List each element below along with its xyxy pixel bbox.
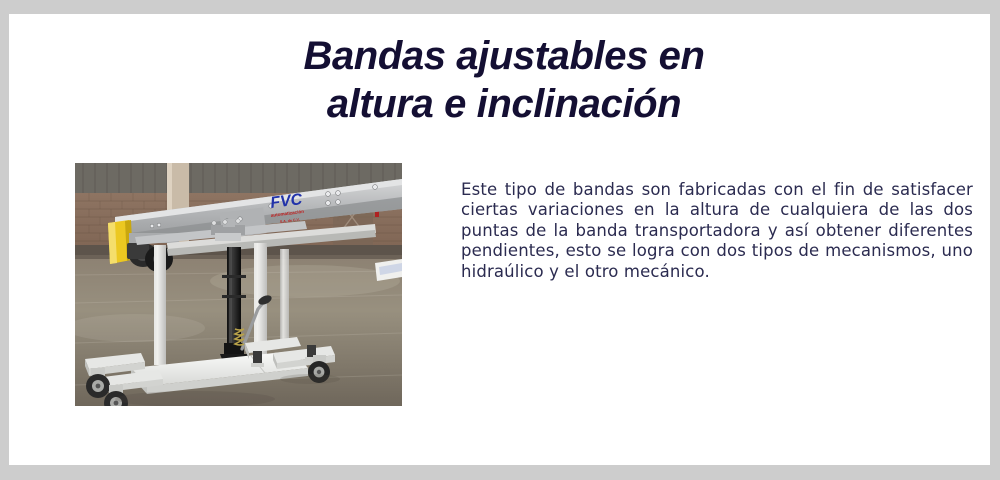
conveyor-photo: FVC automatización S.A. de C.V. bbox=[75, 163, 402, 406]
page-title: Bandas ajustables en altura e inclinació… bbox=[109, 32, 899, 128]
conveyor-photo-illustration: FVC automatización S.A. de C.V. bbox=[75, 163, 402, 406]
body-paragraph: Este tipo de bandas son fabricadas con e… bbox=[461, 180, 973, 283]
slide-canvas: Bandas ajustables en altura e inclinació… bbox=[9, 14, 990, 465]
slide-frame: Bandas ajustables en altura e inclinació… bbox=[0, 0, 1000, 480]
